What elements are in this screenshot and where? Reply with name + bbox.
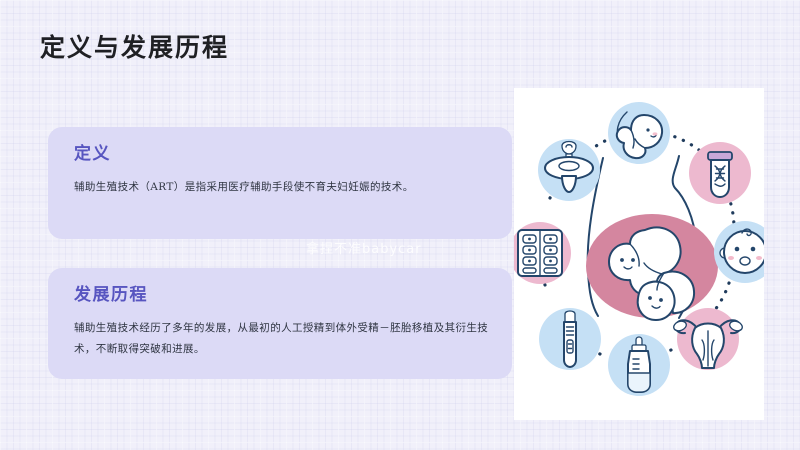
card-history-body: 辅助生殖技术经历了多年的发展，从最初的人工授精到体外受精－胚胎移植及其衍生技术，… <box>74 318 490 361</box>
card-history-heading: 发展历程 <box>74 286 490 305</box>
card-definition-body: 辅助生殖技术（ART）是指采用医疗辅助手段使不育夫妇妊娠的技术。 <box>74 177 490 199</box>
slide-canvas: 定义与发展历程 定义 辅助生殖技术（ART）是指采用医疗辅助手段使不育夫妇妊娠的… <box>0 0 800 450</box>
pacifier-icon <box>538 139 600 201</box>
baby-bottle-icon <box>608 334 670 396</box>
page-title: 定义与发展历程 <box>40 28 229 64</box>
watermark-text: 拿捏不准babycar <box>306 238 422 257</box>
fetus-icon <box>608 102 670 164</box>
card-definition: 定义 辅助生殖技术（ART）是指采用医疗辅助手段使不育夫妇妊娠的技术。 <box>48 127 512 239</box>
dna-test-tube-icon <box>689 142 751 204</box>
pregnancy-test-icon <box>539 308 601 370</box>
card-definition-heading: 定义 <box>74 145 490 164</box>
illustration-panel: .ln { fill:none; stroke:#24466b; stroke-… <box>514 88 764 420</box>
card-history: 发展历程 辅助生殖技术经历了多年的发展，从最初的人工授精到体外受精－胚胎移植及其… <box>48 268 512 379</box>
fertility-illustration: .ln { fill:none; stroke:#24466b; stroke-… <box>514 88 764 420</box>
